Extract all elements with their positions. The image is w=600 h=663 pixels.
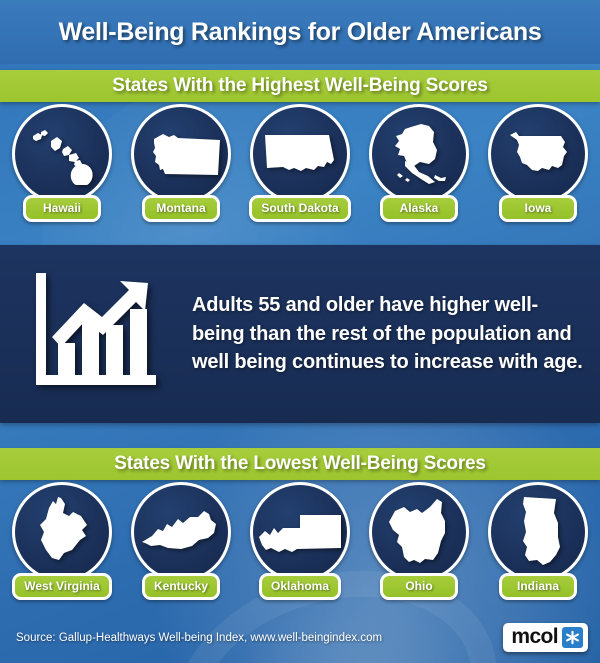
- state-cell-west-virginia[interactable]: West Virginia: [6, 482, 118, 600]
- state-label: West Virginia: [12, 573, 112, 600]
- state-label: Iowa: [499, 195, 577, 222]
- state-cell-ohio[interactable]: Ohio: [363, 482, 475, 600]
- source-attribution: Source: Gallup-Healthways Well-being Ind…: [16, 632, 382, 644]
- state-label: Hawaii: [23, 195, 101, 222]
- chart-icon-container: [0, 271, 192, 397]
- state-label: Alaska: [380, 195, 458, 222]
- logo-wordmark: mcol: [508, 626, 562, 649]
- highest-states-row: Hawaii Montana South Dakota: [0, 104, 600, 226]
- banner-highest-scores: States With the Highest Well-Being Score…: [0, 70, 600, 102]
- header-bar: Well-Being Rankings for Older Americans: [0, 0, 600, 64]
- state-circle: [369, 104, 469, 204]
- bar-chart-growth-icon: [30, 271, 162, 397]
- statement-text: Adults 55 and older have higher well-bei…: [192, 291, 600, 376]
- state-circle: [12, 482, 112, 582]
- state-circle: [488, 104, 588, 204]
- state-circle: [131, 104, 231, 204]
- south-dakota-state-icon: [261, 128, 339, 180]
- state-circle: [488, 482, 588, 582]
- state-circle: [250, 104, 350, 204]
- statement-panel: Adults 55 and older have higher well-bei…: [0, 245, 600, 423]
- west-virginia-state-icon: [31, 496, 93, 568]
- oklahoma-state-icon: [257, 509, 343, 555]
- state-label: Indiana: [499, 573, 577, 600]
- state-cell-hawaii[interactable]: Hawaii: [6, 104, 118, 222]
- state-label: Montana: [142, 195, 220, 222]
- state-circle: [250, 482, 350, 582]
- state-label: Kentucky: [142, 573, 220, 600]
- state-cell-oklahoma[interactable]: Oklahoma: [244, 482, 356, 600]
- banner-lowest-scores: States With the Lowest Well-Being Scores: [0, 448, 600, 480]
- infographic-poster: Well-Being Rankings for Older Americans …: [0, 0, 600, 663]
- state-cell-indiana[interactable]: Indiana: [482, 482, 594, 600]
- state-cell-kentucky[interactable]: Kentucky: [125, 482, 237, 600]
- state-circle: [131, 482, 231, 582]
- state-circle: [12, 104, 112, 204]
- alaska-state-icon: [381, 121, 457, 187]
- state-label: Ohio: [380, 573, 458, 600]
- state-circle: [369, 482, 469, 582]
- kentucky-state-icon: [140, 508, 222, 556]
- state-label: South Dakota: [249, 195, 350, 222]
- iowa-state-icon: [503, 126, 573, 182]
- mcol-logo[interactable]: mcol: [503, 623, 588, 652]
- banner-lowest-label: States With the Lowest Well-Being Scores: [114, 453, 486, 475]
- state-cell-south-dakota[interactable]: South Dakota: [244, 104, 356, 222]
- footer-bar: Source: Gallup-Healthways Well-being Ind…: [0, 612, 600, 663]
- logo-badge: [562, 627, 583, 648]
- hawaii-state-icon: [25, 123, 99, 185]
- lowest-states-row: West Virginia Kentucky Oklahoma: [0, 482, 600, 604]
- page-title: Well-Being Rankings for Older Americans: [59, 18, 542, 47]
- state-label: Oklahoma: [259, 573, 341, 600]
- ohio-state-icon: [387, 497, 451, 567]
- indiana-state-icon: [512, 494, 564, 570]
- state-cell-alaska[interactable]: Alaska: [363, 104, 475, 222]
- banner-highest-label: States With the Highest Well-Being Score…: [112, 75, 488, 97]
- state-cell-iowa[interactable]: Iowa: [482, 104, 594, 222]
- state-cell-montana[interactable]: Montana: [125, 104, 237, 222]
- asterisk-icon: [565, 630, 580, 645]
- montana-state-icon: [142, 128, 220, 180]
